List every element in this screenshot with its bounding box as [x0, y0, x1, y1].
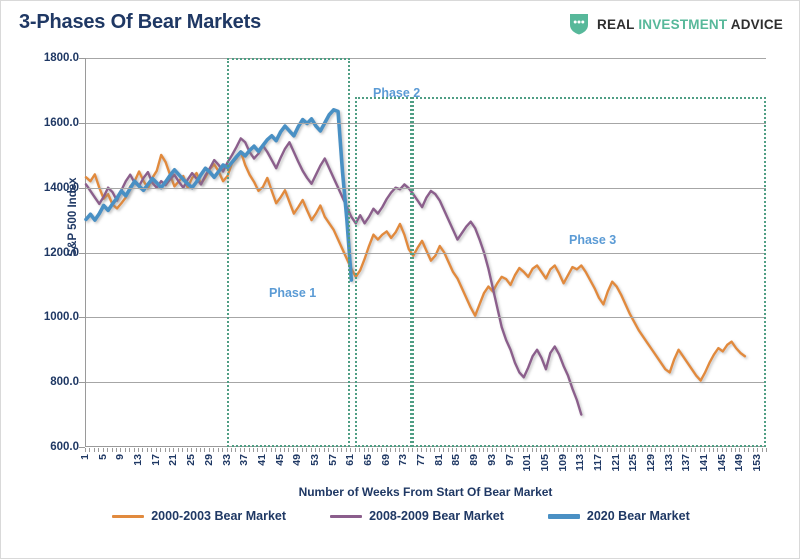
x-axis-tick-mark [465, 448, 466, 452]
x-axis-tick-mark [744, 448, 745, 452]
x-axis-tick-mark [527, 448, 528, 452]
y-axis-tick-label: 1600.0 [44, 117, 79, 129]
x-axis-tick-mark [346, 448, 347, 452]
x-axis-tick-mark [567, 448, 568, 452]
x-axis-tick-mark [496, 448, 497, 452]
x-axis-tick-mark [448, 448, 449, 452]
chart-canvas: 3-Phases Of Bear Markets REAL INVESTMENT… [0, 0, 800, 559]
x-axis-tick-mark [660, 448, 661, 452]
x-axis-tick-mark [377, 448, 378, 452]
x-axis-tick-label: 13 [133, 454, 144, 466]
x-axis-tick-mark [213, 448, 214, 452]
x-axis-tick-label: 133 [664, 454, 675, 472]
phase-label-2: Phase 2 [373, 86, 420, 100]
series-line-2 [86, 138, 581, 414]
x-axis-tick-label: 17 [151, 454, 162, 466]
legend-swatch [548, 514, 580, 519]
x-axis-tick-mark [492, 448, 493, 452]
x-axis-tick-mark [395, 448, 396, 452]
x-axis-tick-label: 33 [222, 454, 233, 466]
x-axis-tick-mark [647, 448, 648, 452]
phase-label-3: Phase 3 [569, 233, 616, 247]
gridline [86, 188, 766, 189]
x-axis-tick-mark [156, 448, 157, 452]
x-axis-tick-mark [350, 448, 351, 452]
x-axis-tick-mark [240, 448, 241, 452]
x-axis-tick-mark [253, 448, 254, 452]
x-axis-tick-mark [390, 448, 391, 452]
gridline [86, 123, 766, 124]
x-axis-tick-mark [439, 448, 440, 452]
x-axis-tick-mark [169, 448, 170, 452]
x-axis-tick-mark [94, 448, 95, 452]
x-axis-tick-mark [695, 448, 696, 452]
x-axis-tick-mark [638, 448, 639, 452]
x-axis-tick-label: 89 [469, 454, 480, 466]
legend-swatch [330, 515, 362, 518]
x-axis-tick-mark [655, 448, 656, 452]
x-axis-tick-mark [713, 448, 714, 452]
x-axis-tick-mark [120, 448, 121, 452]
x-axis-tick-mark [85, 448, 86, 452]
x-axis-tick-mark [594, 448, 595, 452]
x-axis-tick-mark [616, 448, 617, 452]
x-axis-tick-mark [620, 448, 621, 452]
x-axis-tick-mark [271, 448, 272, 452]
x-axis-tick-mark [558, 448, 559, 452]
x-axis-tick-mark [739, 448, 740, 452]
x-axis-tick-mark [532, 448, 533, 452]
x-axis-tick-label: 97 [505, 454, 516, 466]
x-axis-tick-mark [421, 448, 422, 452]
x-axis-tick-mark [762, 448, 763, 452]
x-axis-tick-mark [333, 448, 334, 452]
gridline [86, 317, 766, 318]
x-axis-tick-mark [417, 448, 418, 452]
x-axis-tick-mark [598, 448, 599, 452]
x-axis-tick-mark [523, 448, 524, 452]
brand-logo: REAL INVESTMENT ADVICE [569, 13, 783, 35]
x-axis-tick-label: 141 [699, 454, 710, 472]
x-axis-tick-mark [244, 448, 245, 452]
x-axis-tick-mark [302, 448, 303, 452]
x-axis-tick-mark [142, 448, 143, 452]
x-axis-tick-label: 81 [434, 454, 445, 466]
x-axis-tick-label: 25 [186, 454, 197, 466]
x-axis-tick-mark [686, 448, 687, 452]
x-axis-tick-mark [311, 448, 312, 452]
x-axis-tick-label: 129 [646, 454, 657, 472]
x-axis-tick-mark [607, 448, 608, 452]
x-axis-tick-mark [89, 448, 90, 452]
x-axis-tick-mark [386, 448, 387, 452]
x-axis-tick-mark [430, 448, 431, 452]
x-axis-tick-mark [231, 448, 232, 452]
x-axis-tick-mark [434, 448, 435, 452]
x-axis-tick-mark [540, 448, 541, 452]
x-axis-tick-mark [642, 448, 643, 452]
x-axis-tick-mark [766, 448, 767, 452]
x-axis-tick-mark [359, 448, 360, 452]
x-axis-tick-mark [669, 448, 670, 452]
x-axis-tick-label: 65 [363, 454, 374, 466]
x-axis-tick-mark [735, 448, 736, 452]
x-axis-tick-label: 45 [275, 454, 286, 466]
x-axis-tick-mark [757, 448, 758, 452]
legend-label: 2008-2009 Bear Market [369, 509, 504, 523]
x-axis-tick-mark [319, 448, 320, 452]
x-axis-tick-mark [487, 448, 488, 452]
x-axis-tick-mark [182, 448, 183, 452]
x-axis-tick-label: 69 [381, 454, 392, 466]
x-axis-tick-label: 57 [328, 454, 339, 466]
gridline [86, 382, 766, 383]
x-axis-tick-label: 113 [575, 454, 586, 471]
x-axis-tick-mark [731, 448, 732, 452]
x-axis-tick-mark [337, 448, 338, 452]
legend-swatch [112, 515, 144, 518]
x-axis-tick-mark [257, 448, 258, 452]
gridline [86, 253, 766, 254]
x-axis-tick-mark [134, 448, 135, 452]
x-axis-tick-mark [426, 448, 427, 452]
x-axis-tick-mark [227, 448, 228, 452]
x-axis-tick-mark [178, 448, 179, 452]
x-axis-tick-label: 41 [257, 454, 268, 466]
gridline [86, 58, 766, 59]
x-axis-tick-mark [518, 448, 519, 452]
legend-item-2[interactable]: 2008-2009 Bear Market [330, 509, 504, 523]
x-axis-tick-mark [306, 448, 307, 452]
x-axis-tick-mark [107, 448, 108, 452]
x-axis-tick-mark [629, 448, 630, 452]
x-axis-tick-mark [483, 448, 484, 452]
legend-label: 2020 Bear Market [587, 509, 690, 523]
x-axis-tick-mark [580, 448, 581, 452]
x-axis-tick-label: 125 [628, 454, 639, 472]
x-axis-tick-mark [368, 448, 369, 452]
x-axis-tick-mark [673, 448, 674, 452]
x-axis-tick-mark [470, 448, 471, 452]
x-axis-tick-mark [116, 448, 117, 452]
plot-area [85, 58, 766, 447]
x-axis-tick-mark [536, 448, 537, 452]
x-axis-tick-mark [549, 448, 550, 452]
x-axis-tick-mark [651, 448, 652, 452]
x-axis-tick-mark [160, 448, 161, 452]
x-axis-tick-label: 117 [593, 454, 604, 471]
x-axis-tick-label: 53 [310, 454, 321, 466]
x-axis-tick-label: 5 [98, 454, 109, 460]
x-axis-tick-mark [98, 448, 99, 452]
x-axis-tick-label: 29 [204, 454, 215, 466]
x-axis-tick-mark [510, 448, 511, 452]
legend-item-1[interactable]: 2000-2003 Bear Market [112, 509, 286, 523]
x-axis-tick-label: 121 [611, 454, 622, 472]
chart-title: 3-Phases Of Bear Markets [19, 11, 261, 34]
y-axis-tick-label: 1800.0 [44, 52, 79, 64]
x-axis-tick-mark [461, 448, 462, 452]
x-axis-tick-mark [501, 448, 502, 452]
brand-wordmark: REAL INVESTMENT ADVICE [597, 17, 783, 32]
x-axis-tick-label: 105 [540, 454, 551, 472]
x-axis-tick-label: 37 [239, 454, 250, 466]
x-axis-tick-label: 101 [522, 454, 533, 472]
x-axis-tick-mark [364, 448, 365, 452]
y-axis-tick-label: 1000.0 [44, 311, 79, 323]
x-axis-tick-mark [328, 448, 329, 452]
x-axis-tick-mark [138, 448, 139, 452]
x-axis-tick-mark [196, 448, 197, 452]
x-axis-tick-mark [262, 448, 263, 452]
x-axis-tick-mark [280, 448, 281, 452]
y-axis-title: S&P 500 Index [67, 137, 79, 297]
x-axis-tick-mark [341, 448, 342, 452]
x-axis-tick-mark [165, 448, 166, 452]
x-axis-tick-mark [452, 448, 453, 452]
x-axis-tick-mark [125, 448, 126, 452]
x-axis-tick-mark [191, 448, 192, 452]
legend-label: 2000-2003 Bear Market [151, 509, 286, 523]
x-axis-tick-mark [479, 448, 480, 452]
series-line-3 [86, 110, 351, 280]
x-axis-tick-mark [235, 448, 236, 452]
x-axis-tick-mark [505, 448, 506, 452]
x-axis-tick-mark [403, 448, 404, 452]
x-axis-tick-mark [576, 448, 577, 452]
x-axis-tick-mark [103, 448, 104, 452]
x-axis-tick-label: 21 [168, 454, 179, 466]
x-axis-tick-label: 149 [734, 454, 745, 472]
y-axis-tick-label: 600.0 [50, 441, 79, 453]
x-axis-tick-mark [151, 448, 152, 452]
x-axis-tick-label: 85 [451, 454, 462, 466]
x-axis-tick-label: 9 [115, 454, 126, 460]
x-axis-tick-mark [545, 448, 546, 452]
x-axis-tick-mark [585, 448, 586, 452]
x-axis-tick-mark [722, 448, 723, 452]
x-axis-tick-mark [222, 448, 223, 452]
phase-label-1: Phase 1 [269, 286, 316, 300]
x-axis-tick-label: 153 [752, 454, 763, 472]
x-axis-tick-mark [589, 448, 590, 452]
x-axis-tick-mark [624, 448, 625, 452]
x-axis-tick-mark [664, 448, 665, 452]
x-axis-tick-mark [709, 448, 710, 452]
x-axis-tick-label: 73 [398, 454, 409, 466]
chart-legend: 2000-2003 Bear Market2008-2009 Bear Mark… [1, 509, 800, 523]
x-axis-tick-mark [633, 448, 634, 452]
x-axis-tick-mark [399, 448, 400, 452]
x-axis-tick-mark [443, 448, 444, 452]
x-axis-tick-mark [700, 448, 701, 452]
x-axis-tick-mark [602, 448, 603, 452]
x-axis-tick-label: 49 [292, 454, 303, 466]
x-axis-tick-label: 1 [80, 454, 91, 460]
x-axis-tick-mark [748, 448, 749, 452]
x-axis-tick-mark [474, 448, 475, 452]
x-axis-tick-mark [112, 448, 113, 452]
x-axis-tick-mark [209, 448, 210, 452]
x-axis-tick-mark [408, 448, 409, 452]
x-axis-tick-mark [324, 448, 325, 452]
x-axis-tick-mark [704, 448, 705, 452]
x-axis-tick-label: 61 [345, 454, 356, 466]
brand-word-investment: INVESTMENT [638, 17, 727, 32]
x-axis-tick-mark [691, 448, 692, 452]
x-axis-tick-mark [129, 448, 130, 452]
brand-word-advice: ADVICE [731, 17, 783, 32]
x-axis-tick-mark [611, 448, 612, 452]
x-axis-tick-mark [200, 448, 201, 452]
x-axis-tick-mark [717, 448, 718, 452]
x-axis-tick-mark [514, 448, 515, 452]
x-axis-tick-mark [249, 448, 250, 452]
x-axis-tick-mark [315, 448, 316, 452]
x-axis-tick-mark [678, 448, 679, 452]
x-axis-tick-label: 145 [717, 454, 728, 472]
x-axis-tick-mark [456, 448, 457, 452]
x-axis-tick-mark [218, 448, 219, 452]
x-axis-tick-mark [372, 448, 373, 452]
x-axis-tick-mark [355, 448, 356, 452]
x-axis-tick-mark [381, 448, 382, 452]
x-axis-tick-mark [571, 448, 572, 452]
x-axis-tick-mark [288, 448, 289, 452]
x-axis-tick-label: 77 [416, 454, 427, 466]
x-axis-tick-mark [204, 448, 205, 452]
x-axis-tick-label: 109 [558, 454, 569, 472]
x-axis-tick-mark [173, 448, 174, 452]
x-axis-tick-mark [753, 448, 754, 452]
x-axis-tick-mark [187, 448, 188, 452]
x-axis-tick-mark [297, 448, 298, 452]
shield-icon [569, 13, 589, 35]
x-axis-tick-mark [726, 448, 727, 452]
x-axis-title: Number of Weeks From Start Of Bear Marke… [85, 485, 766, 499]
brand-word-real: REAL [597, 17, 634, 32]
x-axis-tick-mark [147, 448, 148, 452]
x-axis-tick-mark [682, 448, 683, 452]
legend-item-3[interactable]: 2020 Bear Market [548, 509, 690, 523]
x-axis-tick-mark [554, 448, 555, 452]
x-axis-tick-mark [293, 448, 294, 452]
x-axis-tick-mark [284, 448, 285, 452]
y-axis-tick-label: 800.0 [50, 376, 79, 388]
x-axis-tick-mark [275, 448, 276, 452]
x-axis-tick-mark [266, 448, 267, 452]
x-axis-tick-mark [563, 448, 564, 452]
x-axis-tick-label: 93 [487, 454, 498, 466]
x-axis-tick-mark [412, 448, 413, 452]
x-axis-tick-label: 137 [681, 454, 692, 472]
